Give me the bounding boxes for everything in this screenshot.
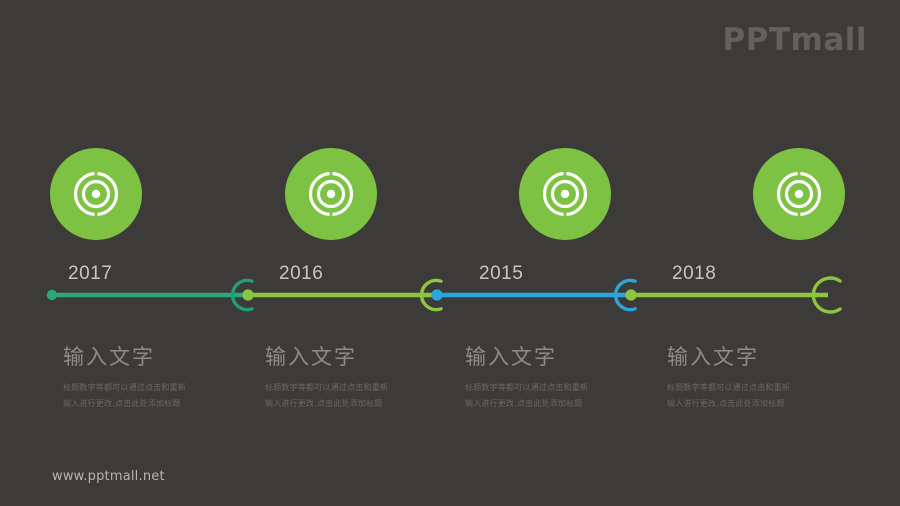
milestone-heading-4: 输入文字	[667, 341, 857, 371]
timeline-start-dot	[47, 290, 57, 300]
radar-target-icon	[70, 168, 122, 220]
milestone-body-1-line1: 标题数字等都可以通过点击和重新	[63, 381, 253, 394]
milestone-text-3: 输入文字 标题数字等都可以通过点击和重新 输入进行更改,点击此处添加标题	[465, 341, 655, 413]
milestone-text-2: 输入文字 标题数字等都可以通过点击和重新 输入进行更改,点击此处添加标题	[265, 341, 455, 413]
pptmall-logo: PPTmall	[722, 22, 867, 58]
milestone-circle-2[interactable]	[285, 148, 377, 240]
milestone-body-2-line2: 输入进行更改,点击此处添加标题	[265, 397, 455, 410]
milestone-body-3-line2: 输入进行更改,点击此处添加标题	[465, 397, 655, 410]
slide-canvas: PPTmall	[0, 0, 900, 506]
milestone-body-4-line1: 标题数字等都可以通过点击和重新	[667, 381, 857, 394]
milestone-circle-3[interactable]	[519, 148, 611, 240]
radar-target-icon	[773, 168, 825, 220]
milestone-text-4: 输入文字 标题数字等都可以通过点击和重新 输入进行更改,点击此处添加标题	[667, 341, 857, 413]
milestone-circle-1[interactable]	[50, 148, 142, 240]
milestone-body-4-line2: 输入进行更改,点击此处添加标题	[667, 397, 857, 410]
milestone-heading-3: 输入文字	[465, 341, 655, 371]
milestone-text-1: 输入文字 标题数字等都可以通过点击和重新 输入进行更改,点击此处添加标题	[63, 341, 253, 413]
radar-target-icon	[305, 168, 357, 220]
milestone-body-1-line2: 输入进行更改,点击此处添加标题	[63, 397, 253, 410]
footer-url[interactable]: www.pptmall.net	[52, 469, 165, 484]
milestone-circle-4[interactable]	[753, 148, 845, 240]
milestone-heading-2: 输入文字	[265, 341, 455, 371]
milestone-heading-1: 输入文字	[63, 341, 253, 371]
timeline-axis	[0, 270, 900, 322]
radar-target-icon	[539, 168, 591, 220]
milestone-body-3-line1: 标题数字等都可以通过点击和重新	[465, 381, 655, 394]
milestone-icon-row	[0, 148, 900, 243]
milestone-body-2-line1: 标题数字等都可以通过点击和重新	[265, 381, 455, 394]
